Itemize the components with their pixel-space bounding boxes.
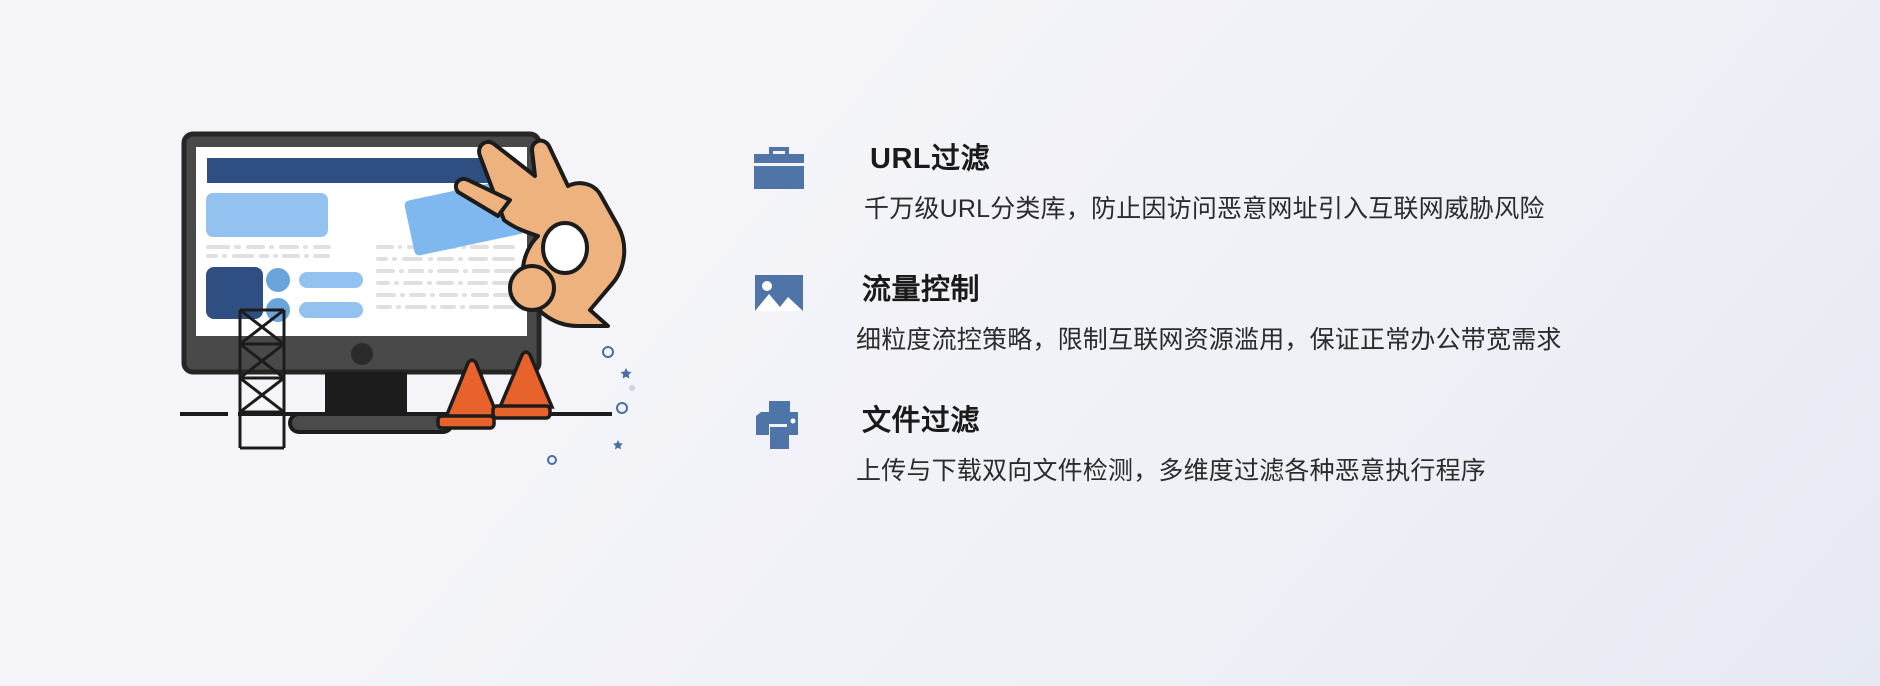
feature-title: URL过滤	[870, 126, 1808, 177]
feature-description: 上传与下载双向文件检测，多维度过滤各种恶意执行程序	[856, 455, 1808, 489]
toolbox-icon	[748, 130, 810, 192]
screen-row-2	[299, 302, 363, 318]
monitor-neck	[325, 372, 407, 415]
screen-avatar-1	[266, 268, 290, 292]
screen-hero-block	[206, 193, 328, 237]
screen-row-1	[299, 272, 363, 288]
slide-canvas: URL过滤 千万级URL分类库，防止因访问恶意网址引入互联网威胁风险 流量控制 …	[0, 0, 1880, 686]
decorative-sparkles-right	[548, 347, 627, 464]
feature-item-url-filter: URL过滤 千万级URL分类库，防止因访问恶意网址引入互联网威胁风险	[748, 126, 1808, 254]
image-icon	[748, 261, 810, 323]
feature-description: 千万级URL分类库，防止因访问恶意网址引入互联网威胁风险	[864, 193, 1808, 227]
feature-description: 细粒度流控策略，限制互联网资源滥用，保证正常办公带宽需求	[856, 324, 1808, 358]
monitor-power-button	[351, 343, 373, 365]
feature-item-file-filter: 文件过滤 上传与下载双向文件检测，多维度过滤各种恶意执行程序	[748, 388, 1808, 516]
feature-item-traffic-control: 流量控制 细粒度流控策略，限制互联网资源滥用，保证正常办公带宽需求	[748, 257, 1808, 385]
feature-list: URL过滤 千万级URL分类库，防止因访问恶意网址引入互联网威胁风险 流量控制 …	[748, 126, 1808, 516]
printer-icon	[748, 392, 810, 454]
feature-title: 流量控制	[862, 257, 1808, 308]
monitor-hand-card-illustration	[180, 120, 660, 550]
feature-title: 文件过滤	[862, 388, 1808, 439]
monitor-base	[290, 414, 452, 432]
